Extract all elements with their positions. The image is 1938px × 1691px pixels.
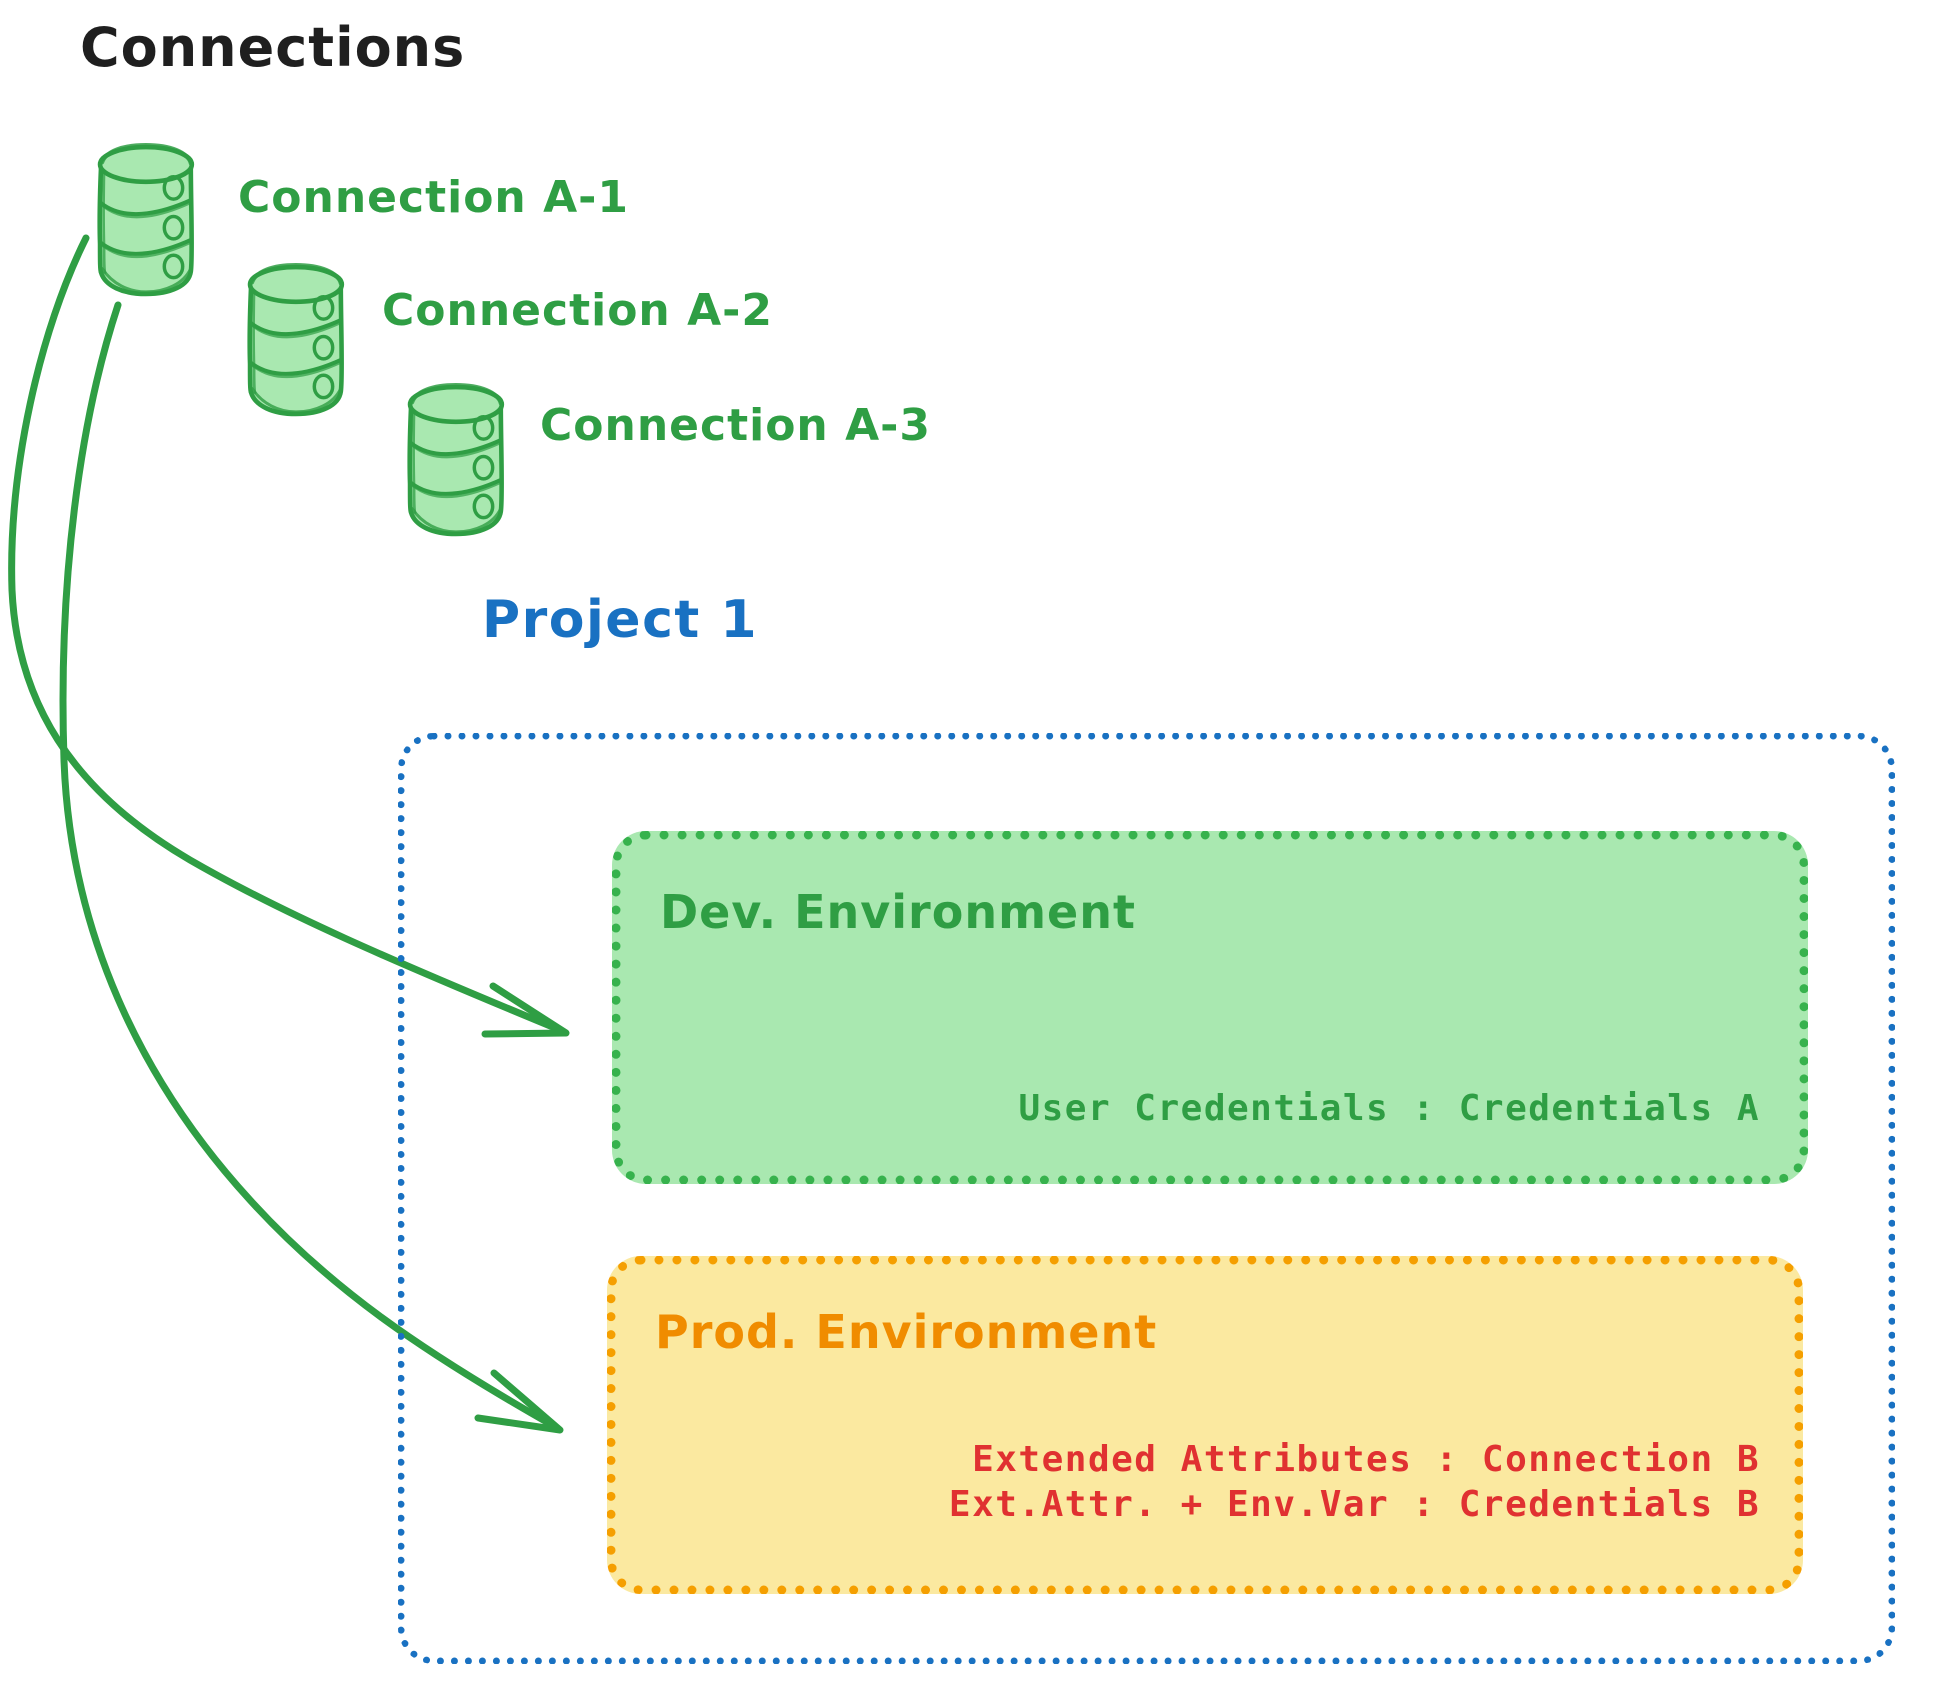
dev-environment-attribute-line: User Credentials : Credentials A <box>740 1086 1760 1131</box>
connections-heading: Connections <box>80 16 465 79</box>
project-1-title: Project 1 <box>482 590 758 650</box>
dev-environment-title: Dev. Environment <box>660 885 1136 939</box>
prod-environment-title: Prod. Environment <box>655 1305 1157 1359</box>
connection-a-3-label: Connection A-3 <box>540 400 931 451</box>
connection-a-2-label: Connection A-2 <box>382 285 773 336</box>
prod-environment-attributes: Extended Attributes : Connection B Ext.A… <box>700 1437 1760 1527</box>
prod-environment-attribute-line: Extended Attributes : Connection B <box>700 1437 1760 1482</box>
diagram-canvas: Connections Connection A-1 Connection A-… <box>0 0 1938 1691</box>
prod-environment-attribute-line: Ext.Attr. + Env.Var : Credentials B <box>700 1482 1760 1527</box>
connection-a-1-label: Connection A-1 <box>238 172 629 223</box>
dev-environment-attributes: User Credentials : Credentials A <box>740 1086 1760 1131</box>
diagram-text-layer: Connections Connection A-1 Connection A-… <box>0 0 1938 1691</box>
